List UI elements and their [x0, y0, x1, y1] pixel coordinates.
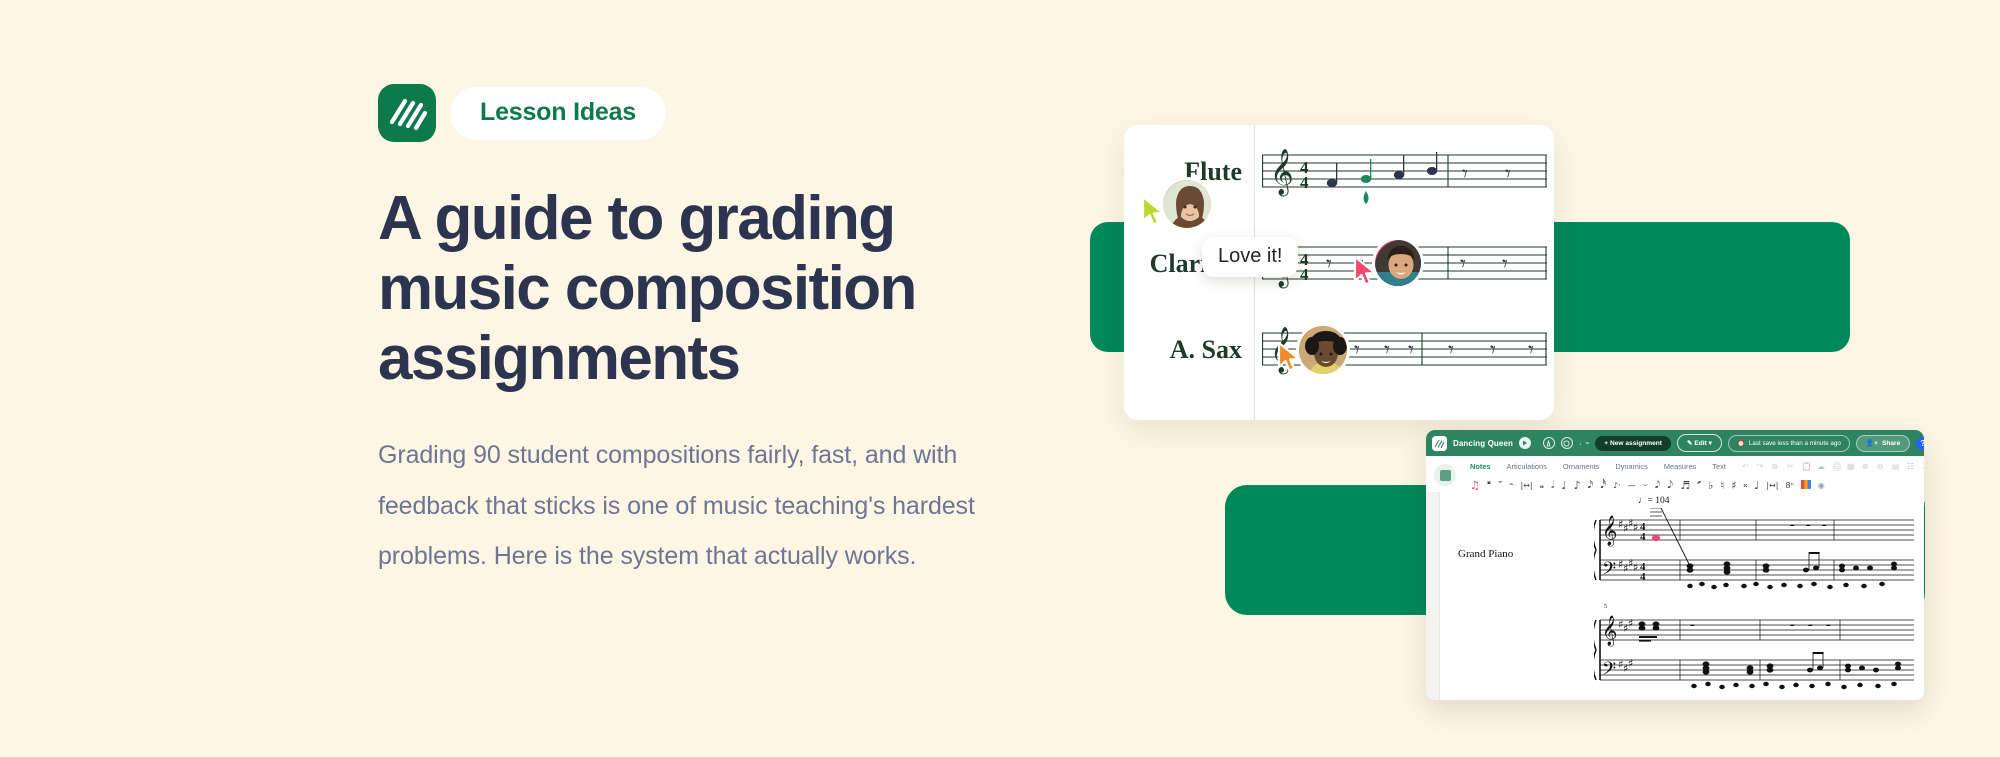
svg-text:𝄼: 𝄼: [1690, 619, 1695, 633]
hero-subcopy: Grading 90 student compositions fairly, …: [378, 430, 1038, 582]
thirtysecond-note-icon[interactable]: 𝅘𝅥𝅰: [1600, 478, 1606, 492]
color-palette-icon[interactable]: [1801, 479, 1811, 492]
svg-text:𝄼: 𝄼: [1822, 519, 1827, 533]
half-note-icon[interactable]: 𝅗𝅥: [1551, 478, 1554, 492]
svg-text:𝄢: 𝄢: [1602, 559, 1616, 584]
paste-icon[interactable]: 📋: [1802, 462, 1811, 471]
muse-stripes-logo-icon: [378, 84, 436, 142]
selected-note: [1652, 535, 1660, 541]
new-assignment-button[interactable]: + New assignment: [1595, 436, 1671, 451]
svg-text:♯: ♯: [1633, 521, 1638, 534]
svg-text:𝄼: 𝄼: [1806, 519, 1811, 533]
double-sharp-icon[interactable]: 𝄪: [1744, 480, 1748, 490]
svg-text:𝄾: 𝄾: [1462, 162, 1468, 187]
edit-button[interactable]: ✎ Edit ▾: [1677, 434, 1722, 452]
svg-text:𝄾: 𝄾: [1490, 338, 1496, 363]
edit-caret-down-icon: ▾: [1707, 440, 1712, 447]
sharp-icon[interactable]: ♯: [1731, 479, 1736, 492]
svg-text:𝄞: 𝄞: [1602, 515, 1617, 547]
redo-icon[interactable]: ↷: [1757, 462, 1766, 471]
svg-text:𝄞: 𝄞: [1602, 615, 1617, 647]
svg-text:𝄾: 𝄾: [1408, 338, 1414, 363]
palette-toggle-button[interactable]: [1434, 464, 1456, 486]
voice-toggle-icon[interactable]: ♫: [1470, 479, 1480, 492]
zoom-in-icon[interactable]: ⊕: [1862, 462, 1871, 471]
score-canvas[interactable]: ♩= 104 Grand Piano: [1426, 492, 1924, 700]
svg-text:𝄾: 𝄾: [1326, 252, 1332, 277]
tab-text[interactable]: Text: [1712, 462, 1726, 471]
svg-text:𝄾: 𝄾: [1502, 252, 1508, 277]
whole-rest-icon[interactable]: 𝄺: [1487, 478, 1491, 492]
badge-row: Lesson Ideas: [378, 84, 1078, 142]
app-titlebar: Dancing Queen ♩= + New assignment ✎ Edit…: [1426, 430, 1924, 456]
cloud-icon[interactable]: ☁: [1817, 462, 1826, 471]
tremolo-icon[interactable]: 𝅫: [1697, 478, 1701, 492]
layout-icon[interactable]: ▤: [1892, 462, 1901, 471]
help-icon[interactable]: ?: [1916, 437, 1924, 450]
fullscreen-icon[interactable]: ⛶: [1922, 462, 1924, 471]
natural-icon[interactable]: ♮: [1720, 479, 1724, 492]
staff-notation-flute: 𝄞 4 4 𝄾 𝄾: [1262, 141, 1547, 219]
svg-text:𝄾: 𝄾: [1505, 162, 1511, 187]
svg-text:𝄾: 𝄾: [1448, 338, 1454, 363]
collaborator-flute-cursor: [1140, 195, 1170, 229]
svg-text:𝄢: 𝄢: [1602, 659, 1616, 684]
share-person-icon: 👤+: [1866, 439, 1878, 447]
svg-text:4: 4: [1300, 173, 1309, 192]
play-icon[interactable]: [1519, 437, 1531, 449]
whole-note-icon[interactable]: 𝅝: [1540, 478, 1544, 492]
svg-text:𝄼: 𝄼: [1826, 619, 1831, 633]
score-system-1[interactable]: 𝄞 𝄢 ♯♯ ♯♯ ♯♯ ♯♯ 4 4 4 4: [1594, 508, 1914, 590]
save-status: ⏰ Last save less than a minute ago: [1728, 435, 1850, 452]
hero-section: Lesson Ideas A guide to grading music co…: [0, 0, 2000, 757]
half-rest-icon[interactable]: 𝄻: [1498, 478, 1502, 492]
tab-measures[interactable]: Measures: [1664, 462, 1696, 471]
collaborator-sax-cursor: [1276, 341, 1306, 375]
quarter-rest-icon[interactable]: 𝄼: [1509, 478, 1513, 492]
transpose-icon[interactable]: |↔|: [1766, 481, 1778, 490]
collaborative-score-card[interactable]: Flute 𝄞 4 4: [1124, 125, 1554, 420]
octave-icon[interactable]: 8ⁿ: [1785, 481, 1793, 490]
svg-text:𝄾: 𝄾: [1460, 252, 1466, 277]
slur-icon[interactable]: ⌣: [1643, 480, 1648, 490]
svg-text:♯: ♯: [1628, 617, 1633, 630]
titlebar-right-group: ⏰ Last save less than a minute ago 👤+ Sh…: [1728, 435, 1924, 452]
tab-ornaments[interactable]: Ornaments: [1563, 462, 1600, 471]
svg-text:4: 4: [1300, 265, 1309, 284]
zoom-out-icon[interactable]: ⊖: [1877, 462, 1886, 471]
quarter-note-icon: ♩: [1638, 496, 1648, 506]
export-icon[interactable]: ☷: [1907, 462, 1916, 471]
svg-text:𝄾: 𝄾: [1354, 338, 1360, 363]
undo-icon[interactable]: ↶: [1742, 462, 1751, 471]
eighth-note-icon[interactable]: ♪: [1574, 479, 1581, 492]
tab-notes[interactable]: Notes: [1470, 462, 1491, 471]
hide-icon[interactable]: ◉: [1818, 481, 1825, 490]
quarter-note-icon[interactable]: ♩: [1561, 479, 1566, 492]
app-tab-bar: Notes Articulations Ornaments Dynamics M…: [1426, 456, 1924, 475]
svg-text:♯: ♯: [1633, 561, 1638, 574]
tab-tool-group: ↶ ↷ ⧉ ✂ 📋 ☁ 🖨 ▦ ⊕ ⊖ ▤ ☷ ⛶: [1742, 462, 1924, 471]
document-title[interactable]: Dancing Queen: [1453, 439, 1513, 448]
comment-tooltip[interactable]: Love it!: [1202, 237, 1298, 277]
staff-label-alto-sax: A. Sax: [1124, 335, 1250, 365]
tab-dynamics[interactable]: Dynamics: [1615, 462, 1647, 471]
metronome-icon[interactable]: [1543, 437, 1555, 449]
svg-text:𝄾: 𝄾: [1384, 338, 1390, 363]
flat-icon[interactable]: ♭: [1708, 479, 1713, 492]
svg-text:♯: ♯: [1628, 657, 1633, 670]
page-setup-icon[interactable]: ▦: [1847, 462, 1856, 471]
score-system-2[interactable]: 𝄞 𝄢 ♯♯♯ ♯♯♯ 𝄼 𝄼𝄼𝄼: [1594, 608, 1914, 690]
svg-text:𝄼: 𝄼: [1790, 519, 1795, 533]
collaborator-clarinet-cursor: [1352, 255, 1382, 289]
beam-group-icon[interactable]: ♬: [1680, 479, 1690, 492]
grace-note-icon[interactable]: 𝅘𝅥𝅮: [1655, 478, 1661, 492]
share-button[interactable]: 👤+ Share: [1856, 435, 1910, 452]
canvas-gutter: [1426, 492, 1440, 700]
svg-text:4: 4: [1640, 571, 1646, 583]
copy-icon[interactable]: ⧉: [1772, 462, 1781, 471]
clock-icon: ⏰: [1737, 439, 1745, 447]
beam-icon[interactable]: 𝅘𝅥𝅮: [1668, 478, 1674, 492]
hero-text-column: Lesson Ideas A guide to grading music co…: [378, 84, 1078, 582]
svg-text:𝄼: 𝄼: [1808, 619, 1813, 633]
stem-icon[interactable]: ♩: [1754, 479, 1759, 492]
print-icon[interactable]: 🖨: [1832, 462, 1841, 471]
notation-app-window[interactable]: Dancing Queen ♩= + New assignment ✎ Edit…: [1426, 430, 1924, 700]
cut-icon[interactable]: ✂: [1787, 462, 1796, 471]
staff-row-clarinet: Clarinet 𝄞 4 4 𝄾 𝄾: [1124, 235, 1554, 313]
instrument-label-grand-piano: Grand Piano: [1458, 548, 1513, 560]
tempo-marking[interactable]: ♩= 104: [1638, 496, 1669, 506]
svg-text:𝄾: 𝄾: [1528, 338, 1534, 363]
svg-text:𝄼: 𝄼: [1790, 619, 1795, 633]
page-title: A guide to grading music composition ass…: [378, 184, 978, 394]
tie-icon[interactable]: |↔|: [1520, 481, 1532, 490]
tuplet-icon[interactable]: —: [1628, 481, 1636, 490]
dotted-note-icon[interactable]: ♪·: [1613, 481, 1621, 490]
tempo-icon[interactable]: ♩=: [1579, 440, 1589, 447]
lesson-ideas-badge[interactable]: Lesson Ideas: [450, 87, 666, 140]
mixer-icon[interactable]: [1561, 437, 1573, 449]
app-logo-icon[interactable]: [1432, 436, 1447, 451]
sixteenth-note-icon[interactable]: 𝅘𝅥𝅯: [1588, 478, 1594, 492]
tab-articulations[interactable]: Articulations: [1507, 462, 1547, 471]
svg-text:𝄞: 𝄞: [1270, 149, 1294, 197]
svg-text:4: 4: [1640, 531, 1646, 543]
